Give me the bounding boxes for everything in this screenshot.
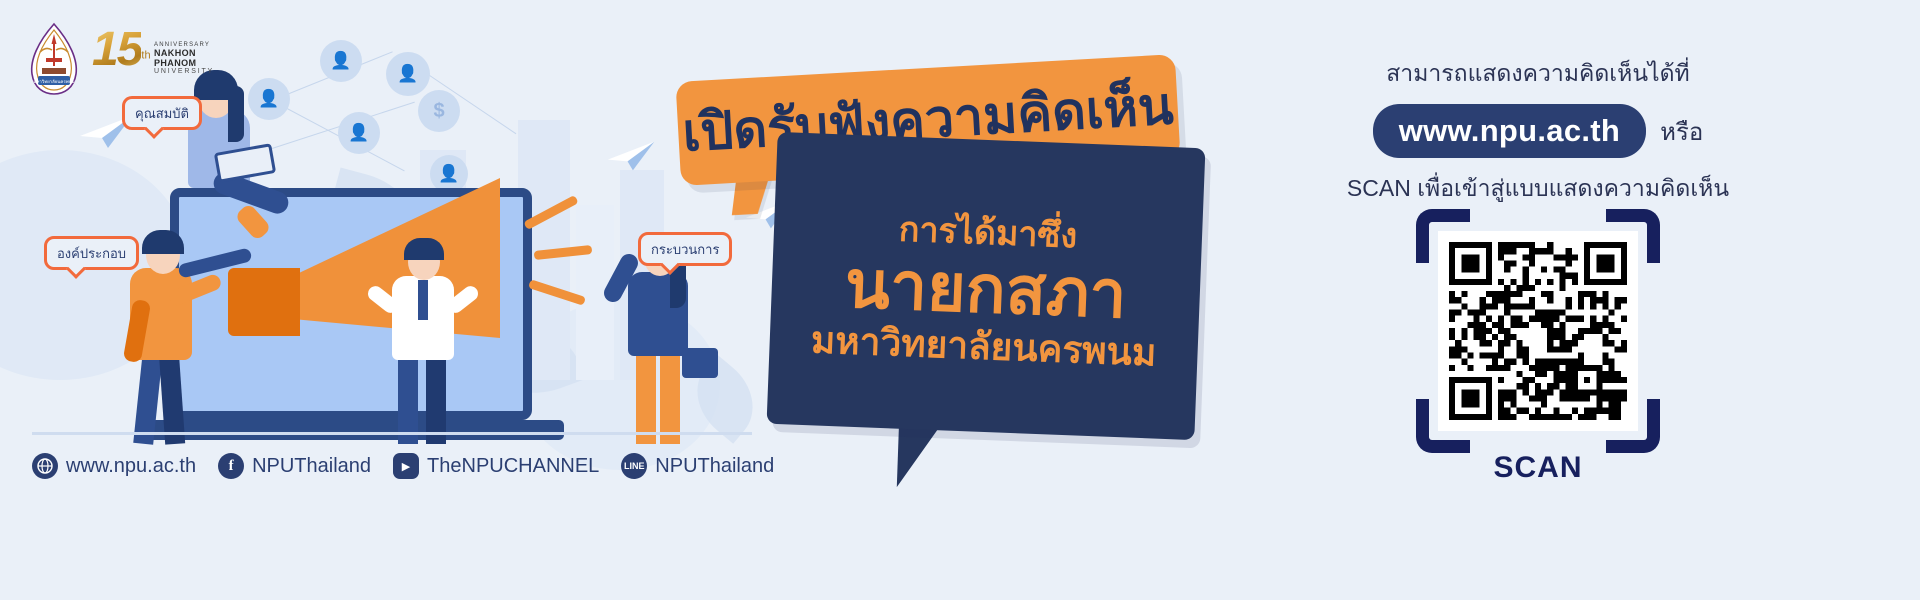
footer-item-youtube[interactable]: ▶ TheNPUCHANNEL <box>393 453 599 479</box>
illustration-scene: 👤 👤 👤 👤 $ 👤 <box>0 0 780 600</box>
person-hair <box>404 238 444 260</box>
avatar-node-icon: 👤 <box>338 112 380 154</box>
scan-instruction-text: SCAN เพื่อเข้าสู่แบบแสดงความคิดเห็น <box>1347 171 1729 207</box>
footer-label-line: NPUThailand <box>655 455 774 478</box>
line-icon: LINE <box>621 453 647 479</box>
avatar-node-icon: 👤 <box>386 52 430 96</box>
anniversary-superscript: th <box>141 50 150 62</box>
qr-code-box[interactable] <box>1438 231 1638 431</box>
mini-bubble-process: กระบวนการ <box>638 232 732 266</box>
person-leg <box>398 352 418 444</box>
social-footer-bar: www.npu.ac.th f NPUThailand ▶ TheNPUCHAN… <box>32 440 762 492</box>
youtube-icon: ▶ <box>393 453 419 479</box>
qr-code-image[interactable] <box>1449 242 1627 420</box>
university-seal-logo: มหาวิทยาลัยนครพนม <box>22 22 86 96</box>
person-tie <box>418 280 428 320</box>
megaphone-body <box>228 268 300 336</box>
footer-label-facebook: NPUThailand <box>252 455 371 478</box>
anniversary-line-2: NAKHON PHANOM <box>154 48 214 68</box>
person-leg <box>426 352 446 444</box>
money-node-icon: $ <box>418 90 460 132</box>
url-row: www.npu.ac.th หรือ <box>1373 104 1704 158</box>
qr-code-frame <box>1438 231 1638 431</box>
avatar-node-icon: 👤 <box>320 40 362 82</box>
globe-icon <box>32 453 58 479</box>
mini-bubble-composition: องค์ประกอบ <box>44 236 139 270</box>
mini-bubble-label: องค์ประกอบ <box>57 243 126 264</box>
footer-item-line[interactable]: LINE NPUThailand <box>621 453 774 479</box>
scan-label: SCAN <box>1493 451 1582 485</box>
banner-root: 👤 👤 👤 👤 $ 👤 <box>0 0 1920 600</box>
anniversary-number: 15 <box>92 23 141 76</box>
ground-line <box>32 432 752 435</box>
navy-headline-card: การได้มาซึ่ง นายกสภา มหาวิทยาลัยนครพนม <box>767 132 1206 440</box>
anniversary-text-block: ANNIVERSARY NAKHON PHANOM UNIVERSITY <box>154 42 214 75</box>
avatar-node-icon: 👤 <box>248 78 290 120</box>
facebook-icon: f <box>218 453 244 479</box>
mini-bubble-label: กระบวนการ <box>651 239 719 260</box>
anniversary-logo: 15th ANNIVERSARY NAKHON PHANOM UNIVERSIT… <box>92 26 200 88</box>
briefcase <box>682 348 718 378</box>
footer-label-website: www.npu.ac.th <box>66 455 196 478</box>
or-label: หรือ <box>1660 112 1703 151</box>
paper-plane-icon <box>606 138 658 174</box>
navy-card-line-2: นายกสภา <box>844 249 1128 329</box>
laptop-base <box>140 420 564 440</box>
person-leg <box>660 346 680 444</box>
footer-item-website[interactable]: www.npu.ac.th <box>32 453 196 479</box>
right-info-column: สามารถแสดงความคิดเห็นได้ที่ www.npu.ac.t… <box>1218 50 1858 550</box>
mini-bubble-quality: คุณสมบัติ <box>122 96 202 130</box>
footer-item-facebook[interactable]: f NPUThailand <box>218 453 371 479</box>
footer-label-youtube: TheNPUCHANNEL <box>427 455 599 478</box>
website-url-pill[interactable]: www.npu.ac.th <box>1373 104 1646 158</box>
comment-instruction-text: สามารถแสดงความคิดเห็นได้ที่ <box>1386 56 1689 92</box>
anniversary-line-3: UNIVERSITY <box>154 68 214 75</box>
mini-bubble-label: คุณสมบัติ <box>135 103 189 124</box>
person-leg <box>636 346 656 444</box>
person-hair <box>142 230 184 254</box>
person-hair-back <box>228 86 244 142</box>
svg-text:มหาวิทยาลัยนครพนม: มหาวิทยาลัยนครพนม <box>33 79 74 84</box>
